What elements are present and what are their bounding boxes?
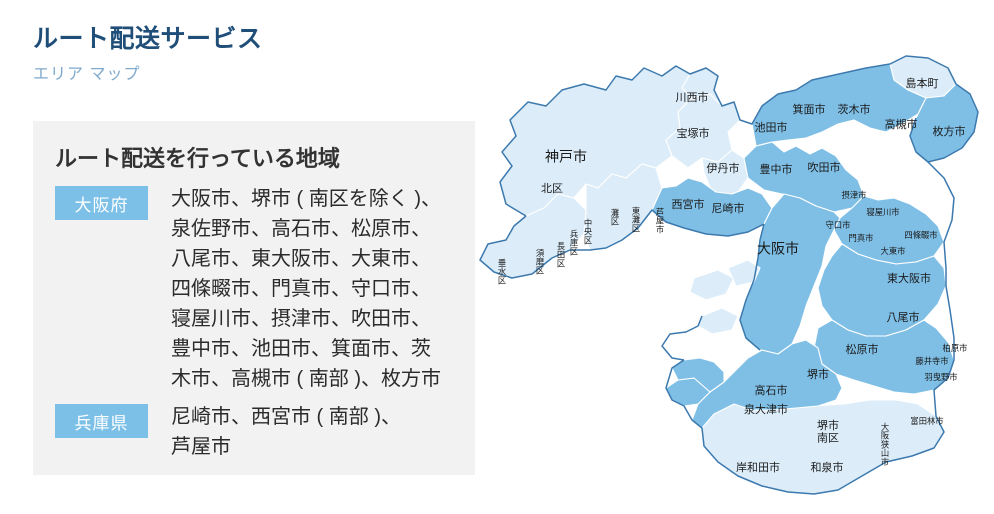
map-label-suita-shi: 吹田市 (808, 161, 841, 174)
map-label-higashinada-ku: 東灘区 (632, 206, 641, 233)
city-list-osaka: 大阪市、堺市 ( 南区を除く )、 泉佐野市、高石市、松原市、 八尾市、東大阪市… (171, 184, 441, 394)
map-label-shijonawate-shi: 四條畷市 (904, 230, 937, 240)
map-label-minoh-shi: 箕面市 (793, 102, 826, 116)
map-label-suma-ku: 須磨区 (536, 248, 545, 275)
map-label-takaishi-shi: 高石市 (755, 383, 788, 397)
map-label-habikino-shi: 羽曳野市 (924, 372, 957, 382)
map-label-nishinomiya-shi: 西宮市 (672, 198, 705, 211)
page-subtitle: エリア マップ (33, 60, 263, 84)
map-label-kita-ku: 北区 (541, 182, 563, 195)
map-label-yao-shi: 八尾市 (887, 311, 920, 324)
panel-heading: ルート配送を行っている地域 (55, 141, 340, 173)
map-label-itami-shi: 伊丹市 (707, 162, 740, 175)
map-label-sakai-shi: 堺市 (807, 368, 829, 381)
map-label-daito-shi: 大東市 (881, 246, 906, 256)
map-label-chuo-ku: 中央区 (584, 218, 593, 245)
map-label-kadoma-shi: 門真市 (849, 233, 874, 243)
city-list-hyogo: 尼崎市、西宮市 ( 南部 )、 芦屋市 (171, 402, 401, 462)
map-label-kashiwara-shi: 柏原市 (943, 343, 968, 353)
map-label-amagasaki-shi: 尼崎市 (712, 201, 745, 215)
map-label-moriguchi-shi: 守口市 (826, 220, 851, 230)
map-label-hirakata-shi: 枚方市 (933, 124, 966, 138)
map-label-izumiotsu-shi: 泉大津市 (744, 402, 788, 416)
badge-hyogo: 兵庫県 (55, 404, 148, 438)
map-label-kobe-shi: 神戸市 (545, 149, 587, 165)
map-label-kawanishi-shi: 川西市 (676, 91, 709, 104)
header: ルート配送サービス エリア マップ (33, 26, 263, 84)
map-label-shimamoto-cho: 島本町 (906, 76, 939, 90)
page-root: ルート配送サービス エリア マップ ルート配送を行っている地域 大阪府 大阪市、… (0, 0, 994, 514)
map-label-ibaraki-shi: 茨木市 (838, 103, 871, 116)
map-label-ashiya-shi: 芦屋市 (656, 207, 664, 234)
map-label-tarumi-ku: 垂水区 (498, 258, 507, 285)
map-label-neyagawa-shi: 寝屋川市 (866, 207, 899, 217)
map-label-takatsuki-shi: 高槻市 (885, 117, 918, 131)
area-map: 神戸市北区中央区兵庫区長田区須磨区垂水区灘区東灘区芦屋市西宮市尼崎市宝塚市川西市… (466, 28, 994, 498)
map-label-nada-ku: 灘区 (611, 208, 620, 227)
prefecture-row-hyogo: 兵庫県 尼崎市、西宮市 ( 南部 )、 芦屋市 (55, 404, 401, 462)
map-label-osakasayama: 大阪狭山市 (881, 422, 890, 467)
map-label-higashiosaka: 東大阪市 (887, 271, 931, 285)
map-label-nagata-ku: 長田区 (557, 241, 565, 268)
map-label-hyogo-ku: 兵庫区 (570, 229, 578, 256)
map-label-toyonaka-shi: 豊中市 (760, 163, 793, 176)
map-label-settsu-shi: 摂津市 (842, 190, 867, 200)
page-title: ルート配送サービス (33, 26, 263, 54)
coverage-panel: ルート配送を行っている地域 大阪府 大阪市、堺市 ( 南区を除く )、 泉佐野市… (33, 121, 475, 475)
badge-osaka: 大阪府 (55, 186, 148, 220)
prefecture-row-osaka: 大阪府 大阪市、堺市 ( 南区を除く )、 泉佐野市、高石市、松原市、 八尾市、… (55, 186, 441, 394)
map-label-ikeda-shi: 池田市 (755, 121, 788, 134)
map-label-tondabayashi: 富田林市 (910, 416, 943, 426)
map-label-takarazuka-shi: 宝塚市 (677, 126, 710, 140)
map-label-kishiwada-shi: 岸和田市 (736, 461, 780, 474)
map-label-matsubara-shi: 松原市 (846, 342, 879, 356)
map-label-izumi-shi: 和泉市 (811, 460, 844, 474)
map-label-osaka-shi: 大阪市 (757, 241, 799, 257)
map-label-fujiidera-shi: 藤井寺市 (915, 356, 948, 366)
map-label-sakai-minami-ku: 堺市南区 (817, 419, 839, 445)
